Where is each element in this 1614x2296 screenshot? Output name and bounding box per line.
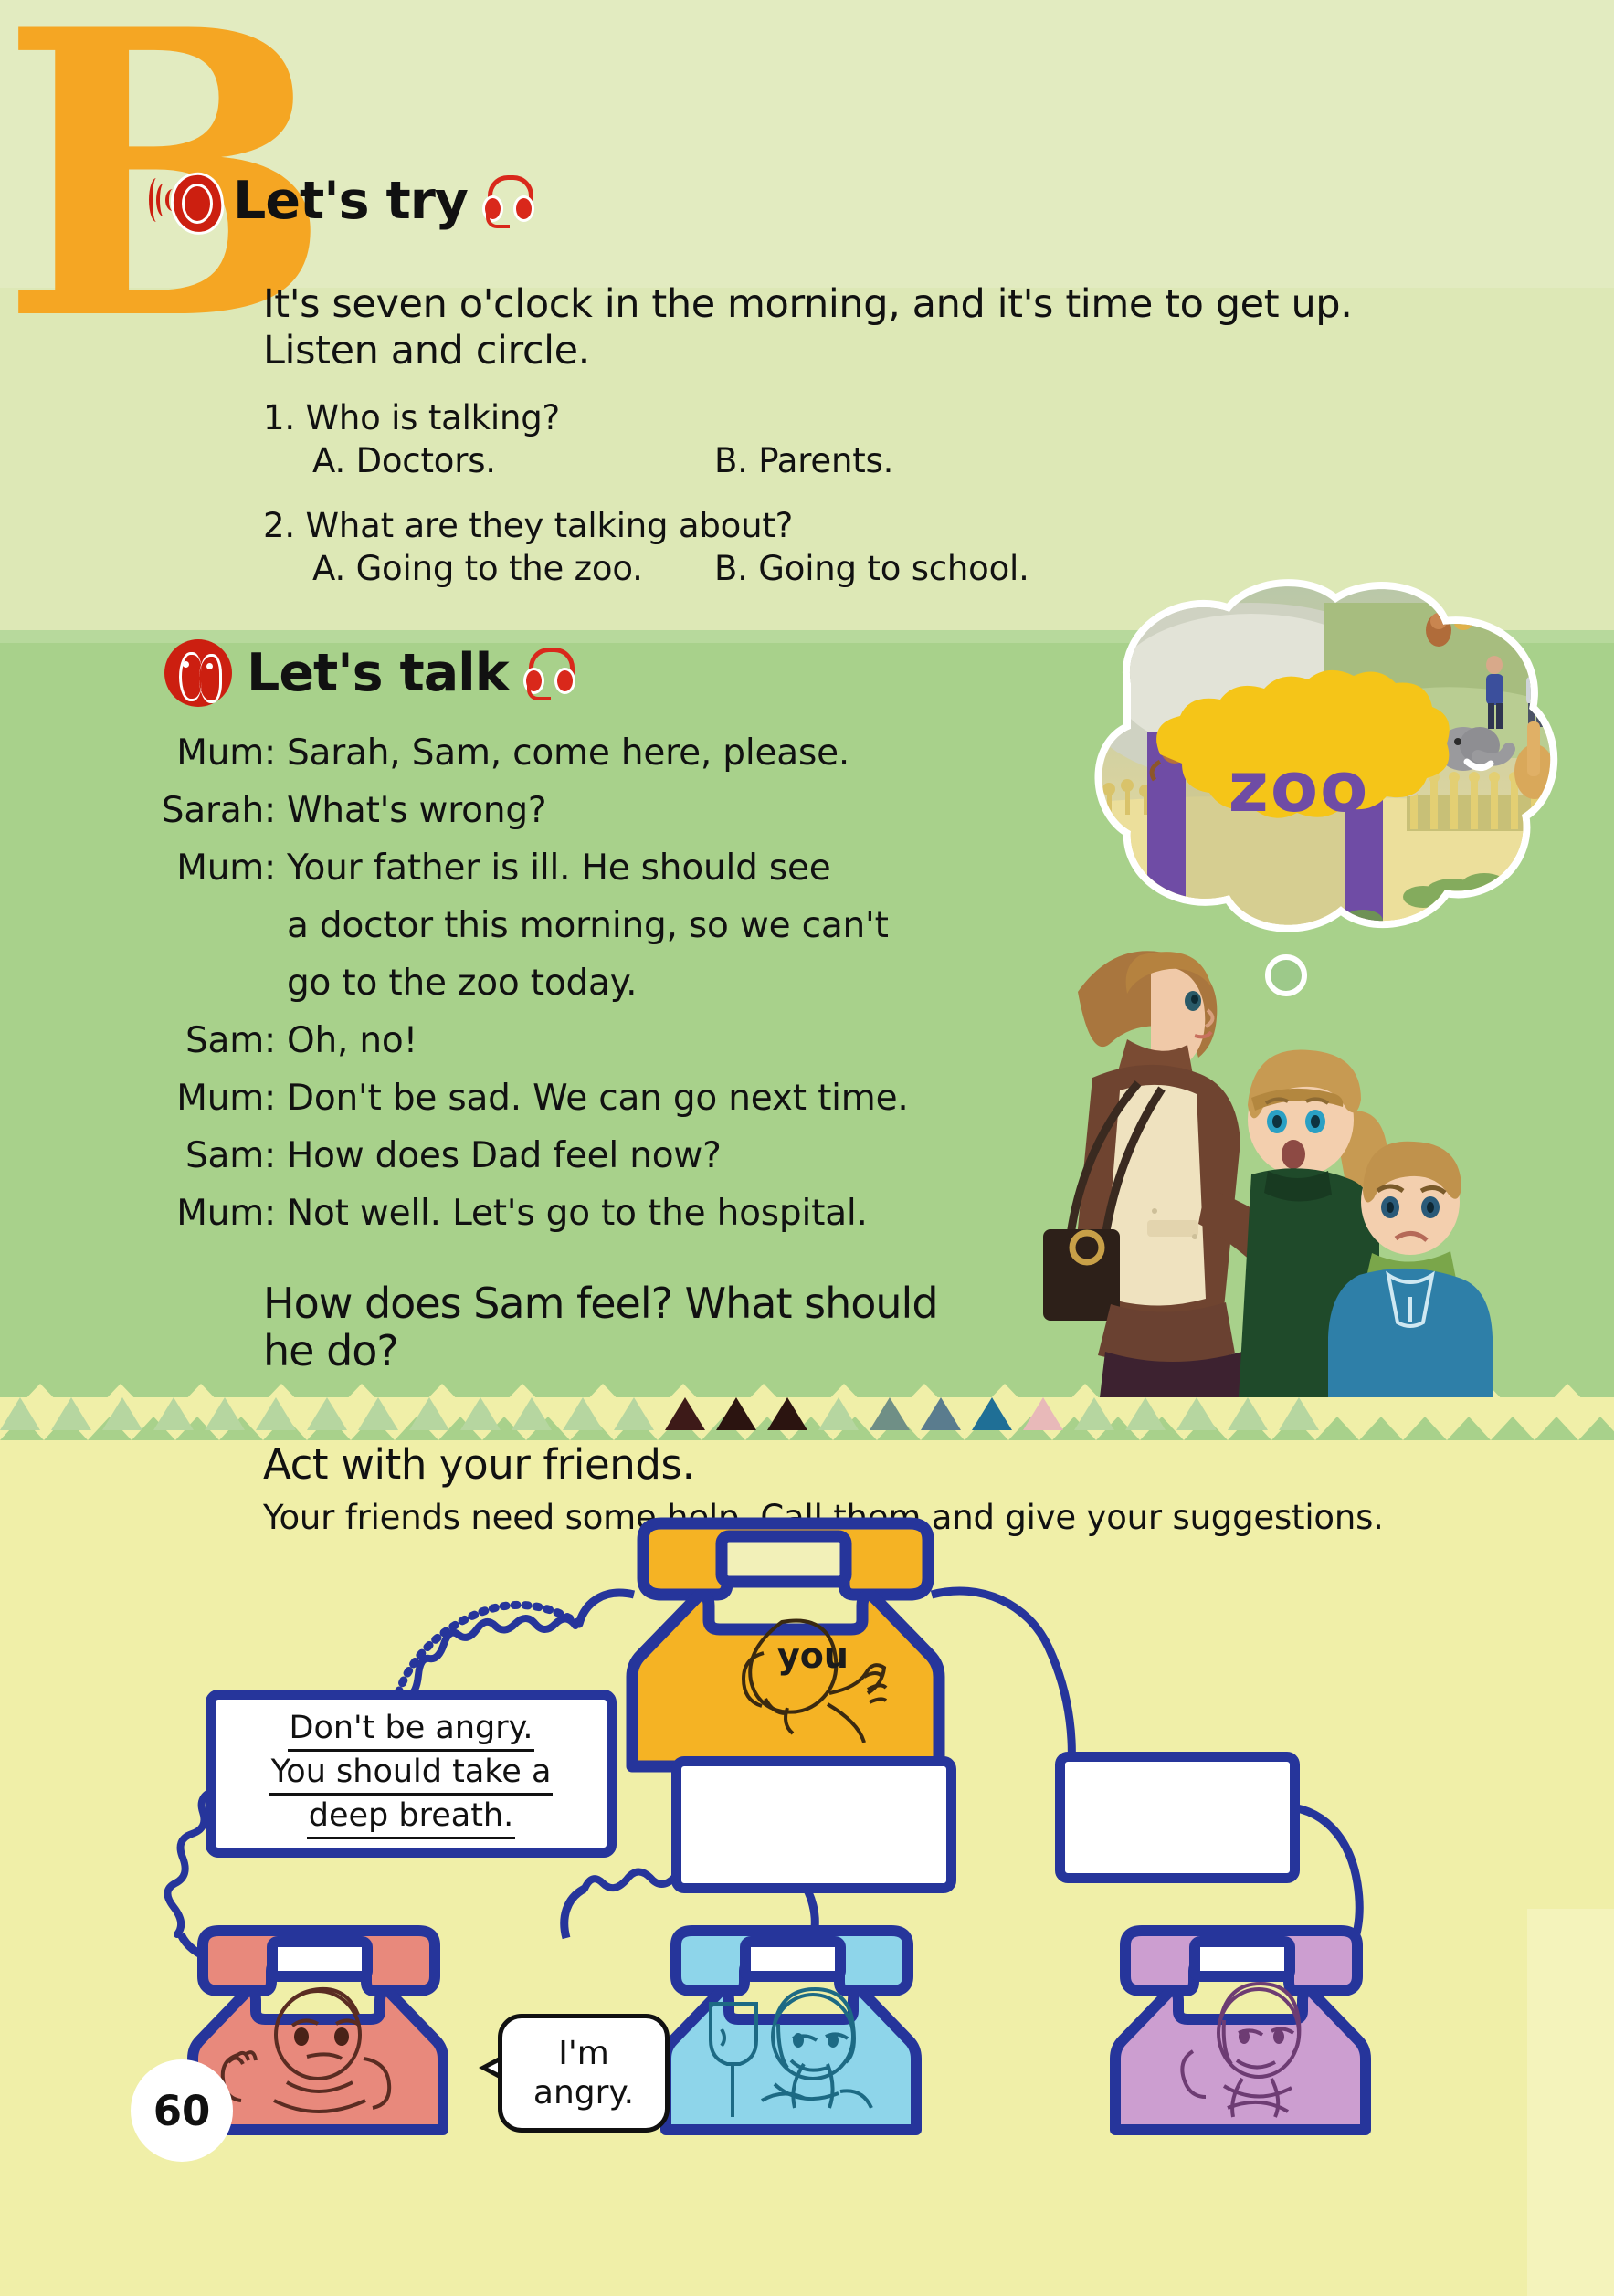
lets-try-instruction: It's seven o'clock in the morning, and i… [263, 281, 1469, 374]
dialogue-speaker: Mum: [152, 850, 287, 886]
triangle-band-tooth [51, 1397, 91, 1430]
suggestion-bubble-empty-1-text [681, 1766, 946, 1883]
dialogue-speaker: Sarah: [152, 793, 287, 828]
suggestion-line-3: deep breath. [307, 1796, 515, 1839]
triangle-band-tooth [818, 1397, 859, 1430]
triangle-band-tooth [1279, 1397, 1319, 1430]
phone-you-label: you [777, 1636, 849, 1676]
headphones-icon [480, 174, 532, 228]
triangle-band-tooth [512, 1397, 552, 1430]
dialogue-speaker: Sam: [152, 1023, 287, 1058]
dialogue-speaker: Mum: [152, 1195, 287, 1231]
phone-you: you [632, 1523, 939, 1766]
triangle-band-tooth [767, 1397, 807, 1430]
two-faces-icon [164, 639, 232, 707]
suggestion-line-1: Don't be angry. [288, 1708, 535, 1752]
triangle-band-tooth [256, 1397, 296, 1430]
question-2-option-b[interactable]: B. Going to school. [714, 548, 1029, 589]
dialogue-row: Mum:Sarah, Sam, come here, please. [152, 735, 955, 771]
friend-speech-line-1: I'm [558, 2034, 609, 2073]
triangle-band-tooth [460, 1397, 501, 1430]
triangle-band-tooth [716, 1397, 756, 1430]
lets-try-header: Let's try [151, 169, 532, 233]
phone-diagram: you [0, 1516, 1614, 2247]
dialogue-text: Don't be sad. We can go next time. [287, 1080, 955, 1116]
triangle-band-tooth [1023, 1397, 1063, 1430]
triangle-band [0, 1397, 1614, 1439]
dialogue-text: Not well. Let's go to the hospital. [287, 1195, 955, 1231]
page-number: 60 [131, 2059, 233, 2162]
dialogue-speaker: Mum: [152, 1080, 287, 1116]
lets-talk-header: Let's talk [164, 639, 573, 707]
triangle-band-tooth [1228, 1397, 1268, 1430]
speaker-icon [151, 169, 222, 233]
question-1-option-a[interactable]: A. Doctors. [312, 440, 714, 481]
headphones-icon [522, 646, 573, 700]
lets-talk-title: Let's talk [247, 643, 509, 703]
textbook-page: B Let's try It's seven o'clock in the mo… [0, 0, 1614, 2296]
triangle-band-tooth [921, 1397, 961, 1430]
act-section-title: Act with your friends. [263, 1440, 695, 1489]
reflection-question: How does Sam feel? What should he do? [263, 1280, 957, 1374]
family-illustration [932, 922, 1535, 1397]
friend-speech-line-2: angry. [533, 2073, 634, 2112]
triangle-band-tooth [665, 1397, 705, 1430]
dialogue-row: Mum:Don't be sad. We can go next time. [152, 1080, 955, 1116]
dialogue-list: Mum:Sarah, Sam, come here, please.Sarah:… [152, 735, 955, 1253]
triangle-band-tooth [153, 1397, 194, 1430]
dialogue-row: Mum:Your father is ill. He should see [152, 850, 955, 886]
suggestion-bubble-text: Don't be angry. You should take a deep b… [216, 1700, 607, 1848]
dialogue-text: Sarah, Sam, come here, please. [287, 735, 955, 771]
dialogue-speaker: Sam: [152, 1138, 287, 1174]
dialogue-text: What's wrong? [287, 793, 955, 828]
phone-friend-cyan [666, 1931, 916, 2130]
triangle-band-tooth [563, 1397, 603, 1430]
triangle-band-tooth [205, 1397, 245, 1430]
question-1-option-b[interactable]: B. Parents. [714, 440, 893, 481]
dialogue-speaker: Mum: [152, 735, 287, 771]
dialogue-text: Oh, no! [287, 1023, 955, 1058]
suggestion-line-2: You should take a [269, 1752, 554, 1796]
triangle-band-tooth [1125, 1397, 1166, 1430]
question-1-prompt: 1. Who is talking? [263, 397, 1359, 438]
phone-friend-purple [1115, 1931, 1366, 2130]
question-2-option-a[interactable]: A. Going to the zoo. [312, 548, 714, 589]
lets-try-title: Let's try [233, 171, 468, 231]
suggestion-bubble-empty-1[interactable] [671, 1756, 956, 1893]
cord-curve [579, 1593, 634, 1624]
triangle-band-tooth [1074, 1397, 1114, 1430]
triangle-band-tooth [307, 1397, 347, 1430]
dialogue-text: Your father is ill. He should see [287, 850, 955, 886]
dialogue-continuation: a doctor this morning, so we can't [152, 908, 955, 943]
dialogue-row: Sarah:What's wrong? [152, 793, 955, 828]
friend-speech-bubble: I'm angry. [498, 2014, 670, 2133]
suggestion-bubble-filled[interactable]: Don't be angry. You should take a deep b… [206, 1690, 617, 1858]
suggestion-bubble-empty-2-text [1065, 1762, 1290, 1873]
dialogue-row: Sam:Oh, no! [152, 1023, 955, 1058]
triangle-band-tooth [870, 1397, 910, 1430]
question-1-options: A. Doctors. B. Parents. [312, 440, 1359, 481]
triangle-band-tooth [614, 1397, 654, 1430]
triangle-band-tooth [1176, 1397, 1217, 1430]
triangle-band-tooth [409, 1397, 449, 1430]
triangle-band-tooth [0, 1397, 40, 1430]
dialogue-row: Sam:How does Dad feel now? [152, 1138, 955, 1174]
dialogue-text: How does Dad feel now? [287, 1138, 955, 1174]
suggestion-bubble-empty-2[interactable] [1055, 1752, 1300, 1883]
triangle-band-tooth [358, 1397, 398, 1430]
svg-text:zoo: zoo [1229, 746, 1370, 827]
dialogue-continuation: go to the zoo today. [152, 965, 955, 1001]
dialogue-row: Mum:Not well. Let's go to the hospital. [152, 1195, 955, 1231]
triangle-band-tooth [972, 1397, 1012, 1430]
triangle-band-tooth [102, 1397, 142, 1430]
question-2-prompt: 2. What are they talking about? [263, 505, 1359, 546]
